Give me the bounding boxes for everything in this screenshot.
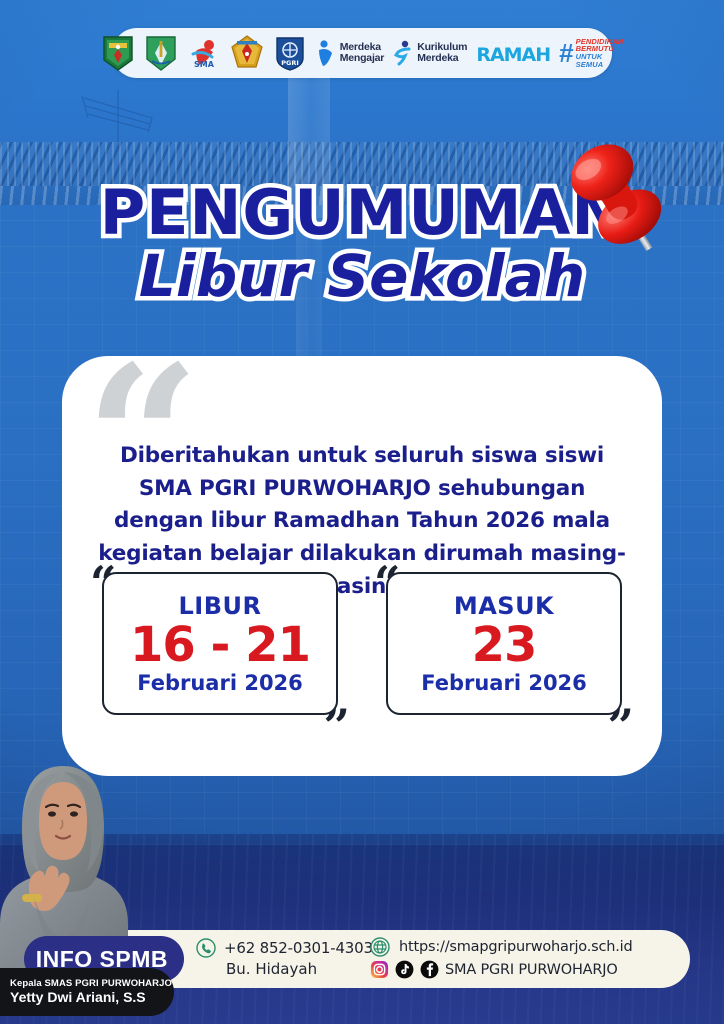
phone-contact-name: Bu. Hidayah [226, 960, 373, 978]
svg-text:PGRI: PGRI [281, 59, 299, 67]
globe-icon [370, 937, 390, 957]
pendidikan-label-3: UNTUK SEMUA [576, 53, 624, 68]
merdeka-mengajar-icon [316, 39, 336, 67]
social-handle: SMA PGRI PURWOHARJO [445, 962, 618, 978]
phone-icon [196, 938, 216, 958]
date-boxes: “ ” LIBUR 16 - 21 Februari 2026 “ ” MASU… [62, 566, 662, 721]
pgri-crest: PGRI [273, 34, 307, 72]
kurikulum-merdeka-logo: Kurikulum Merdeka [393, 39, 467, 67]
presenter-nameplate: Kepala SMAS PGRI PURWOHARJO Yetty Dwi Ar… [0, 968, 174, 1016]
tiktok-icon[interactable] [395, 960, 414, 979]
date-label: LIBUR [179, 592, 262, 620]
kurikulum-merdeka-icon [393, 39, 413, 67]
website-url[interactable]: https://smapgripurwoharjo.sch.id [399, 939, 632, 955]
poster-root: SMA PGRI Merdeka Mengajar [0, 0, 724, 1024]
contact-web-block: https://smapgripurwoharjo.sch.id [370, 937, 632, 979]
merdeka-mengajar-label-2: Mengajar [340, 53, 385, 64]
ramah-label: RAMAH [476, 46, 550, 65]
phone-number[interactable]: +62 852-0301-4303 [224, 939, 373, 957]
partner-logo-bar: SMA PGRI Merdeka Mengajar [112, 28, 612, 78]
date-month-year: Februari 2026 [137, 671, 303, 695]
date-number: 16 - 21 [130, 620, 310, 670]
kabupaten-banyuwangi-crest [101, 34, 135, 72]
date-box-masuk: “ ” MASUK 23 Februari 2026 [372, 566, 636, 721]
date-month-year: Februari 2026 [421, 671, 587, 695]
hash-icon: # [559, 40, 573, 66]
presenter-name: Yetty Dwi Ariani, S.S [10, 989, 174, 1007]
date-box-libur: “ ” LIBUR 16 - 21 Februari 2026 [88, 566, 352, 721]
tut-wuri-handayani-crest [230, 34, 264, 72]
date-number: 23 [472, 620, 537, 670]
pushpin-icon [556, 132, 680, 264]
provinsi-jawa-timur-crest [144, 34, 178, 72]
kurikulum-merdeka-label-2: Merdeka [417, 53, 467, 64]
svg-text:SMA: SMA [194, 60, 215, 69]
instagram-icon[interactable] [370, 960, 389, 979]
pendidikan-bermutu-logo: # PENDIDIKAN BERMUTU UNTUK SEMUA [559, 38, 623, 69]
contact-phone-block: +62 852-0301-4303 Bu. Hidayah [196, 938, 373, 978]
merdeka-mengajar-logo: Merdeka Mengajar [316, 39, 385, 67]
ramah-logo: · · · · · · · · · RAMAH [476, 41, 550, 65]
facebook-icon[interactable] [420, 960, 439, 979]
date-label: MASUK [454, 592, 554, 620]
presenter-role: Kepala SMAS PGRI PURWOHARJO [10, 978, 174, 989]
sma-logo: SMA [187, 34, 221, 72]
